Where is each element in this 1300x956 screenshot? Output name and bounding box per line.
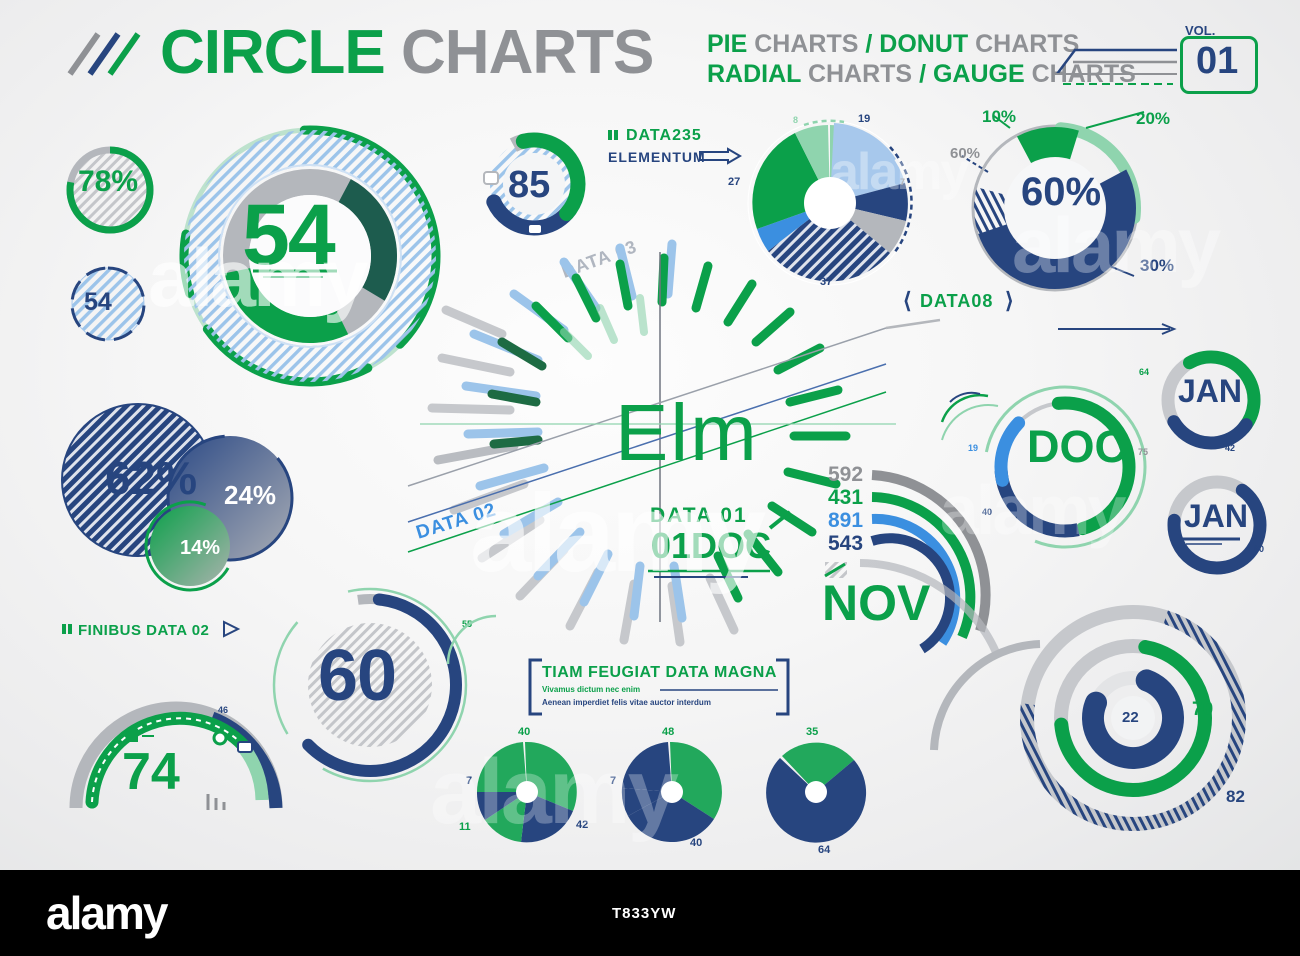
- pie3-label-35: 35: [806, 727, 818, 738]
- finibus-play-icon: [222, 620, 242, 638]
- volume-number: 01: [1196, 42, 1238, 80]
- nov-value-543: 543: [828, 533, 863, 554]
- sub2-radial: RADIAL: [707, 60, 801, 88]
- jan2-underline-icon: [1182, 536, 1244, 546]
- textbox-title: TIAM FEUGIAT DATA MAGNA: [542, 665, 777, 681]
- pie-top-label-7: 7: [900, 178, 905, 187]
- label-data01: DATA 01: [650, 505, 748, 526]
- pie1-label-11: 11: [459, 822, 471, 833]
- sub1-slash: /: [865, 30, 872, 58]
- data08-bracket-left: ⟨: [903, 290, 912, 312]
- decor-arc-bottom: [930, 640, 1050, 760]
- data235-bullet-icon: [608, 128, 624, 142]
- label-data08: DATA08: [920, 292, 993, 310]
- jan1-label-42: 42: [1225, 444, 1235, 453]
- sub2-slash: /: [919, 60, 926, 88]
- footer-image-id: T833YW: [612, 906, 676, 921]
- chart-donut-54-large-value: 54: [242, 192, 334, 278]
- chart-pie-small-2: [618, 738, 726, 846]
- arrow-tick-icon: [768, 510, 798, 532]
- pie-top-label-19: 19: [858, 114, 870, 125]
- header-arrow-lines-icon: [1055, 38, 1180, 90]
- sub1-donut: DONUT: [879, 30, 968, 58]
- donut-54-underline: [253, 268, 337, 280]
- chart-donut-85-value: 85: [508, 166, 550, 204]
- decor-arc-left: [444, 610, 504, 670]
- sub2-charts: CHARTS: [808, 60, 912, 88]
- jan2-label-60: 60: [1254, 545, 1264, 554]
- pie2-label-7: 7: [610, 776, 616, 787]
- label-elm: Elm: [615, 393, 759, 473]
- label-doc: DOC: [1027, 424, 1127, 469]
- title-part-charts: CHARTS: [401, 18, 653, 87]
- bubble-label-14: 14%: [180, 538, 220, 558]
- chart-donut-54-small-value: 54: [84, 290, 112, 315]
- radial-label-70: 70: [1192, 700, 1213, 719]
- chart-pie-small-1: [473, 738, 581, 846]
- jan1-label-64: 64: [1139, 368, 1149, 377]
- donut-60pct-label-20: 20%: [1136, 110, 1170, 127]
- sub1-pie: PIE: [707, 30, 747, 58]
- chart-gauge-74-value: 74: [122, 746, 180, 798]
- donut-60pct-label-10: 10%: [982, 108, 1016, 125]
- footer-logo: alamy: [46, 890, 166, 936]
- gauge-74-tick: 46: [218, 706, 228, 715]
- infographic-poster: CIRCLE CHARTS PIE CHARTS / DONUT CHARTS …: [0, 0, 1300, 956]
- pie1-label-40: 40: [518, 727, 530, 738]
- label-data235: DATA235: [626, 128, 702, 144]
- donut-60pct-label-30: 30%: [1140, 257, 1174, 274]
- pie2-label-48: 48: [662, 727, 674, 738]
- label-elementum: ELEMENTUM: [608, 150, 706, 164]
- radial-label-22: 22: [1122, 710, 1139, 725]
- label-nov: NOV: [822, 578, 930, 628]
- chart-pie-small-3: [762, 738, 870, 846]
- donut-60pct-label-60: 60%: [950, 146, 980, 161]
- pie-top-label-8: 8: [793, 116, 798, 125]
- page-title: CIRCLE CHARTS: [160, 22, 653, 84]
- finibus-bullet-icon: [62, 622, 76, 636]
- title-part-circle: CIRCLE: [160, 18, 385, 87]
- pie3-label-64: 64: [818, 845, 830, 856]
- label-jan-2: JAN: [1184, 500, 1248, 532]
- sub1-charts: CHARTS: [754, 30, 858, 58]
- doc-label-40: 40: [982, 508, 992, 517]
- arrow-line-icon: [1058, 322, 1178, 336]
- chart-donut-60-navy-value: 60: [318, 640, 396, 712]
- poster-canvas: CIRCLE CHARTS PIE CHARTS / DONUT CHARTS …: [0, 0, 1300, 870]
- chart-donut-78-value: 78%: [78, 167, 138, 197]
- doc-underline-icon: [648, 568, 778, 582]
- pie1-label-7: 7: [466, 776, 472, 787]
- nov-value-431: 431: [828, 487, 863, 508]
- label-jan-1: JAN: [1178, 375, 1242, 407]
- bubble-label-24: 24%: [224, 482, 276, 508]
- label-01doc: 01DOC: [651, 528, 771, 564]
- pie1-label-42: 42: [576, 820, 588, 831]
- nov-value-592: 592: [828, 464, 863, 485]
- pie-top-label-27: 27: [728, 177, 740, 188]
- radial-label-82: 82: [1226, 788, 1245, 805]
- sub2-gauge: GAUGE: [933, 60, 1025, 88]
- textbox-line1: Vivamus dictum nec enim: [542, 686, 640, 694]
- pie2-label-40: 40: [690, 838, 702, 849]
- gauge-marker-icon: [126, 728, 156, 744]
- data08-bracket-right: ⟩: [1005, 290, 1014, 312]
- nov-value-891: 891: [828, 510, 863, 531]
- label-finibus: FINIBUS DATA 02: [78, 623, 209, 638]
- bubble-label-62: 62%: [105, 455, 197, 501]
- textbox-rule-icon: [660, 686, 780, 694]
- subtitle-line-1: PIE CHARTS / DONUT CHARTS: [707, 32, 1079, 57]
- textbox-line2: Aenean imperdiet felis vitae auctor inte…: [542, 699, 711, 707]
- doc-decor-arcs: [940, 392, 1010, 452]
- logo-slashes-icon: [62, 30, 152, 80]
- doc-label-tick: 75: [1138, 448, 1148, 457]
